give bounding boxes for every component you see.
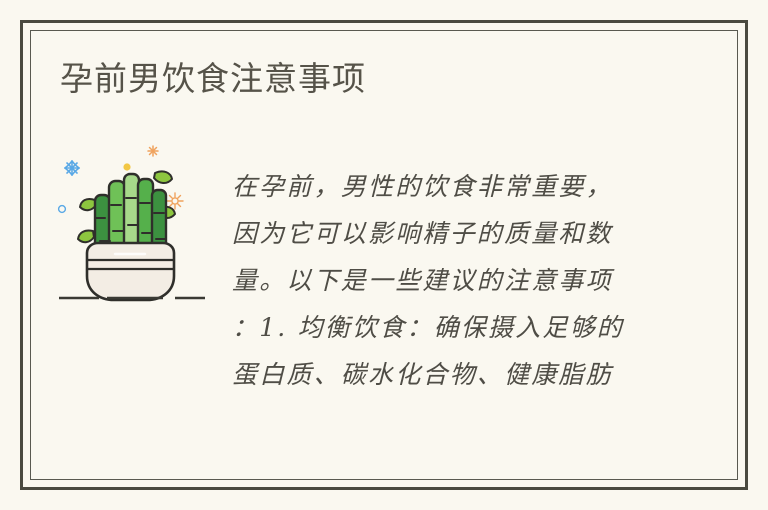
body-line: 蛋白质、碳水化合物、健康脂肪 [232,351,672,398]
plant-pot [87,243,174,300]
body-line: ：1. 均衡饮食：确保摄入足够的 [232,304,672,351]
body-line: 量。以下是一些建议的注意事项 [232,257,672,304]
page-title: 孕前男饮食注意事项 [60,57,366,101]
snowflake-icon [65,161,79,175]
body-line: 因为它可以影响精子的质量和数 [232,210,672,257]
dot-sparkle-yellow-icon [123,163,130,170]
article-body: 在孕前，男性的饮食非常重要， 因为它可以影响精子的质量和数 量。以下是一些建议的… [232,163,672,398]
dot-sparkle-blue-icon [59,206,66,213]
body-line: 在孕前，男性的饮食非常重要， [232,163,672,210]
star-sparkle-orange-icon [148,146,158,156]
article-card-page: 孕前男饮食注意事项 [0,0,768,510]
bamboo-cactus-illustration [55,143,210,308]
